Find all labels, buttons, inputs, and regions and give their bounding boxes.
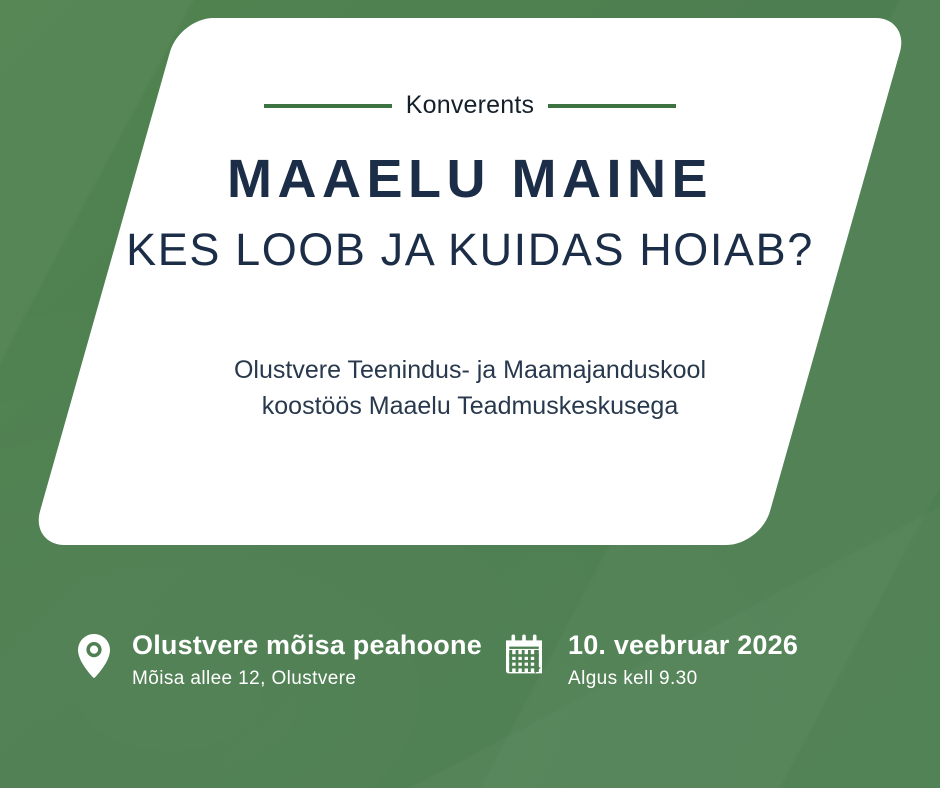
event-date: 10. veebruar 2026 [568,630,798,662]
venue-text: Olustvere mõisa peahoone Mõisa allee 12,… [132,628,482,691]
eyebrow-rule-left [264,104,392,108]
card-content: Konverents MAAELU MAINE KES LOOB JA KUID… [0,18,940,545]
eyebrow-rule-right [548,104,676,108]
conference-poster: Konverents MAAELU MAINE KES LOOB JA KUID… [0,0,940,788]
date-info: 10. veebruar 2026 Algus kell 9.30 [502,628,798,691]
organiser-line-1: Olustvere Teenindus- ja Maamajanduskool [234,352,706,389]
date-text: 10. veebruar 2026 Algus kell 9.30 [562,628,798,691]
page-subtitle: KES LOOB JA KUIDAS HOIAB? [126,226,814,273]
location-pin-icon [72,628,116,684]
calendar-icon [502,628,546,684]
organiser-line-2: koostöös Maaelu Teadmuskeskusega [234,388,706,425]
organisers-block: Olustvere Teenindus- ja Maamajanduskool … [234,352,706,425]
venue-address: Mõisa allee 12, Olustvere [132,668,482,691]
venue-name: Olustvere mõisa peahoone [132,630,482,662]
event-start-time: Algus kell 9.30 [568,668,798,691]
venue-info: Olustvere mõisa peahoone Mõisa allee 12,… [72,628,502,691]
info-bar: Olustvere mõisa peahoone Mõisa allee 12,… [0,628,940,691]
eyebrow-row: Konverents [0,91,940,120]
eyebrow-label: Konverents [406,91,534,120]
page-title: MAAELU MAINE [227,151,713,208]
